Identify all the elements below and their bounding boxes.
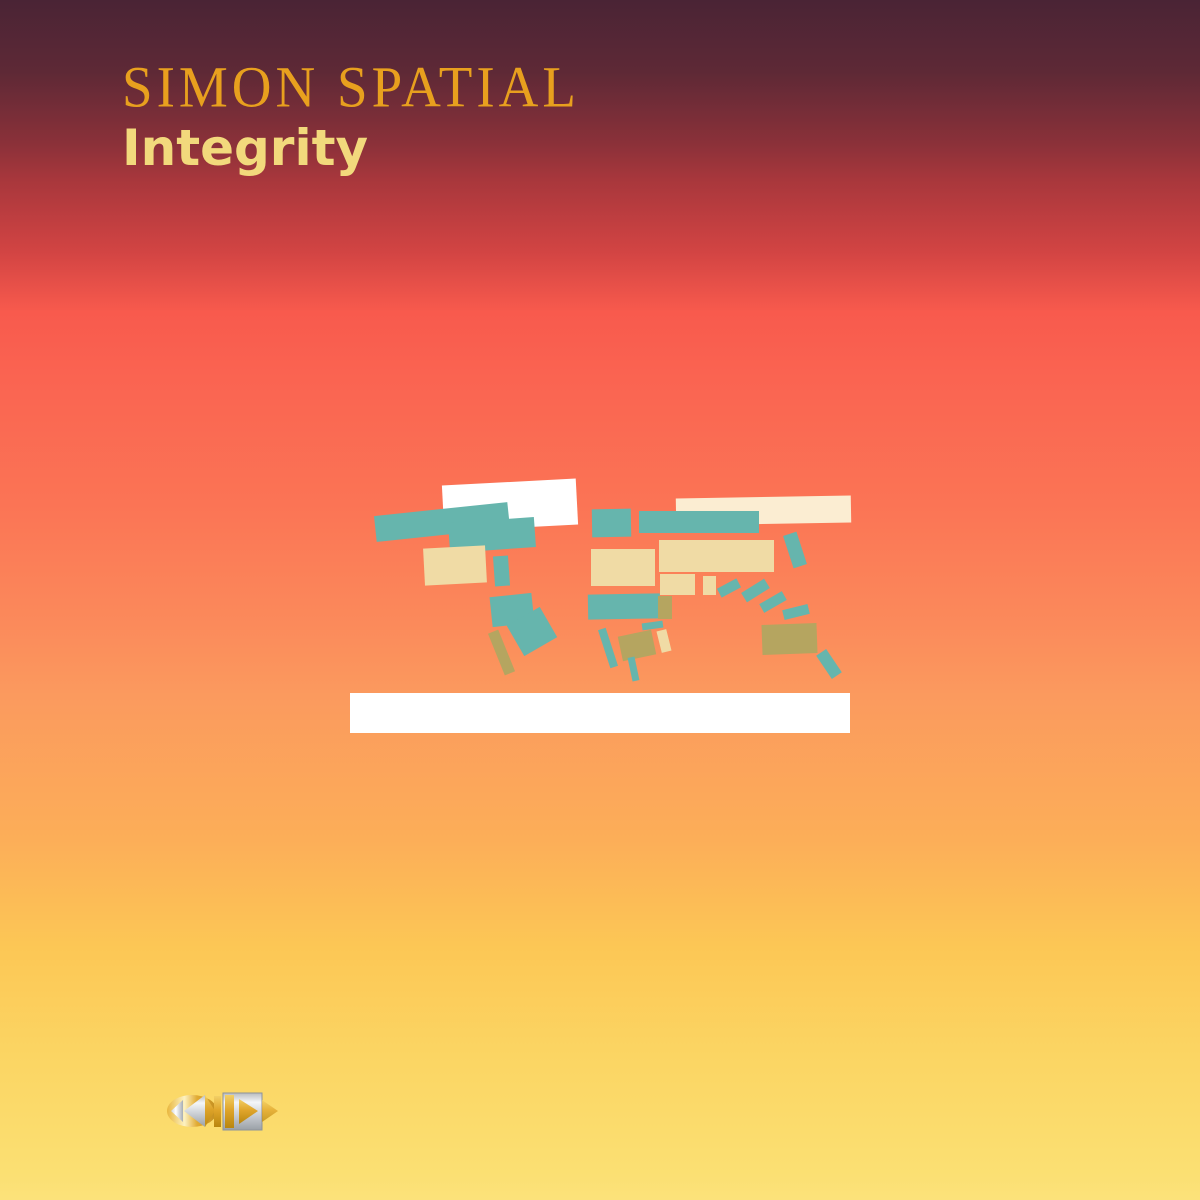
artwork-shape-teal-diag-r2	[741, 579, 770, 603]
artwork-shape-teal-vert-r	[783, 532, 807, 569]
artwork-shape-cream-stick-low	[656, 629, 671, 653]
artwork-shape-teal-diag-r1	[717, 578, 741, 597]
artwork-shape-teal-diag-far	[816, 649, 842, 679]
artwork-shape-cream-wide-mid	[659, 540, 774, 572]
artwork-shape-cream-block-mid	[591, 549, 655, 586]
artwork-shape-teal-curve-low	[598, 628, 618, 669]
media-player-controls[interactable]	[158, 1082, 288, 1140]
artwork-shape-teal-diag-r3	[759, 591, 787, 613]
artwork-shape-teal-wedge-mid	[639, 511, 759, 533]
play-icon-outer-wedge	[262, 1100, 278, 1122]
play-button-accent-bar	[225, 1095, 234, 1128]
artwork-shape-teal-sq-mid1	[592, 509, 631, 538]
artwork-shape-teal-diag-r4	[782, 604, 810, 620]
artwork-shape-white-bar-bottom	[350, 693, 850, 733]
artwork-shape-teal-wide-lower	[588, 593, 660, 619]
artwork-shape-teal-small-left	[493, 556, 510, 587]
album-title: Integrity	[122, 123, 580, 173]
title-block: SIMON SPATIAL Integrity	[122, 58, 580, 173]
artwork-shape-olive-block-right	[761, 623, 817, 655]
previous-icon-right-wedge	[205, 1095, 215, 1127]
artwork-shape-teal-curve-low2	[628, 657, 640, 682]
abstract-artwork	[0, 0, 1200, 1200]
artwork-shape-cream-small-mid	[660, 574, 695, 595]
artwork-shape-olive-stick-left	[488, 630, 515, 676]
artist-name: SIMON SPATIAL	[122, 58, 580, 116]
artwork-shape-cream-block-left	[423, 545, 487, 585]
album-cover: SIMON SPATIAL Integrity	[0, 0, 1200, 1200]
play-button-bar	[214, 1096, 221, 1127]
previous-button[interactable]	[167, 1095, 217, 1127]
artwork-shape-olive-sq-mid	[658, 596, 672, 619]
artwork-shape-group	[350, 479, 851, 733]
play-button[interactable]	[214, 1093, 278, 1130]
artwork-shape-cream-tiny-mid	[703, 576, 716, 595]
artwork-shape-teal-strip-low1	[642, 621, 664, 631]
artwork-shape-olive-block-low	[618, 630, 656, 662]
